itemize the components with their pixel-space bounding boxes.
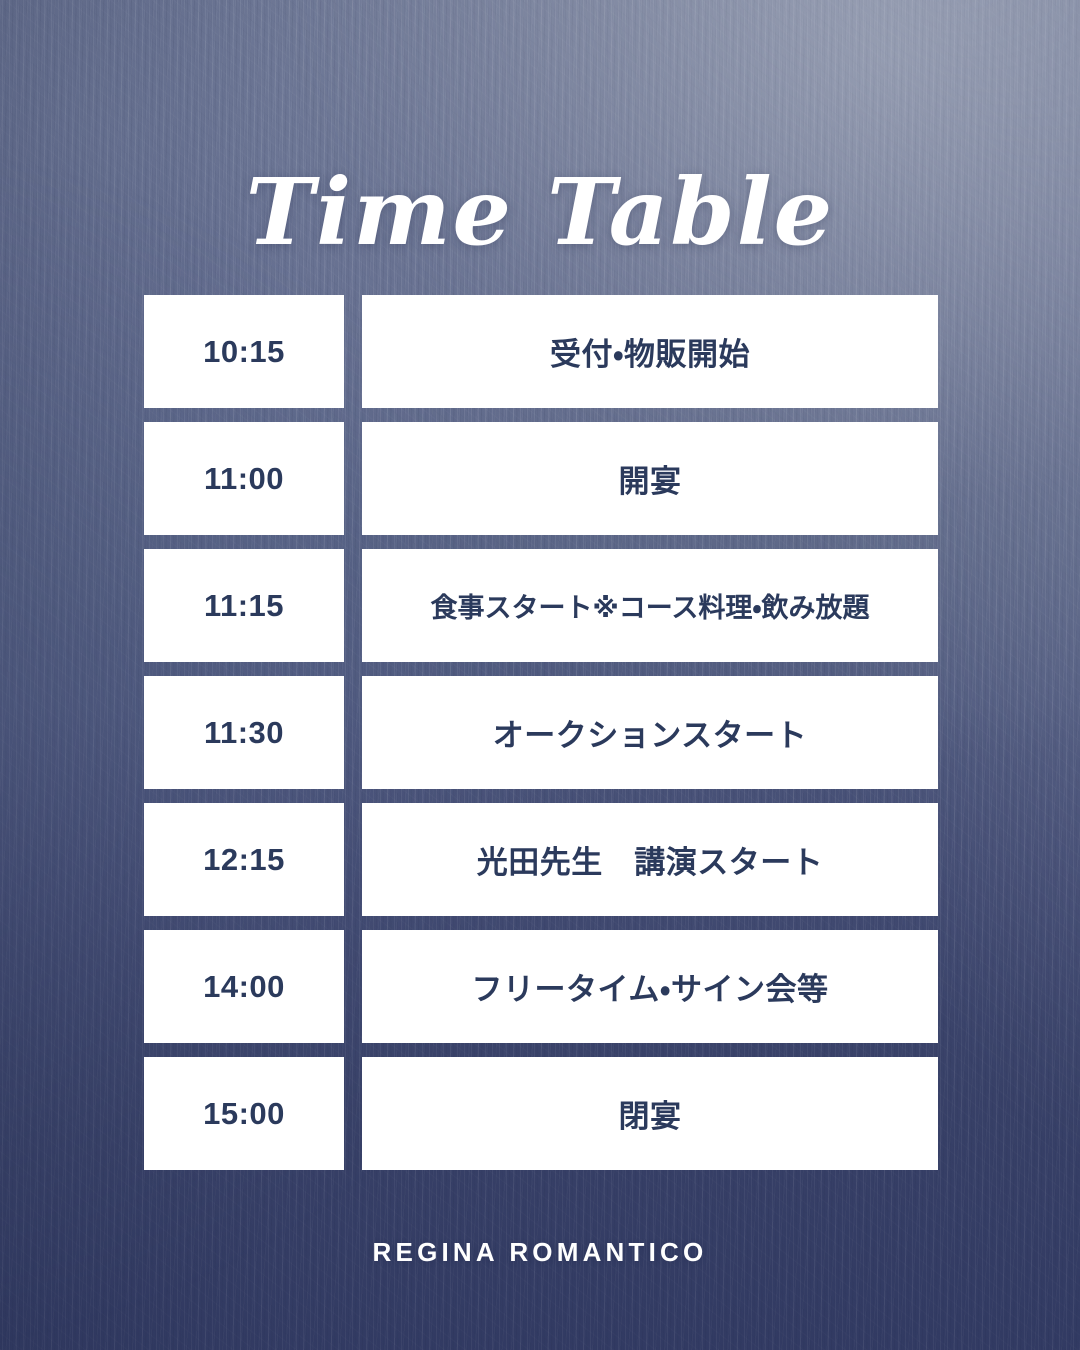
row-label: 光田先生 講演スタート: [362, 803, 938, 916]
row-label: 閉宴: [362, 1057, 938, 1170]
table-row: 12:15 光田先生 講演スタート: [144, 803, 938, 916]
table-row: 11:30 オークションスタート: [144, 676, 938, 789]
row-time: 11:30: [144, 676, 344, 789]
timetable: 10:15 受付・物販開始 11:00 開宴 11:15 食事スタート※コース料…: [144, 295, 938, 1170]
table-row: 15:00 閉宴: [144, 1057, 938, 1170]
row-divider-gap: [344, 930, 362, 1043]
row-label: 開宴: [362, 422, 938, 535]
row-time: 11:00: [144, 422, 344, 535]
row-divider-gap: [344, 1057, 362, 1170]
table-row: 10:15 受付・物販開始: [144, 295, 938, 408]
row-label: オークションスタート: [362, 676, 938, 789]
page-title: Time Table: [0, 166, 1080, 258]
table-row: 11:15 食事スタート※コース料理・飲み放題: [144, 549, 938, 662]
table-row: 11:00 開宴: [144, 422, 938, 535]
row-divider-gap: [344, 676, 362, 789]
table-row: 14:00 フリータイム・サイン会等: [144, 930, 938, 1043]
row-label: フリータイム・サイン会等: [362, 930, 938, 1043]
row-label: 食事スタート※コース料理・飲み放題: [362, 549, 938, 662]
row-time: 15:00: [144, 1057, 344, 1170]
row-divider-gap: [344, 803, 362, 916]
row-divider-gap: [344, 549, 362, 662]
row-time: 14:00: [144, 930, 344, 1043]
poster-content: Time Table 10:15 受付・物販開始 11:00 開宴 11:15 …: [0, 0, 1080, 1350]
row-divider-gap: [344, 295, 362, 408]
row-time: 11:15: [144, 549, 344, 662]
row-divider-gap: [344, 422, 362, 535]
brand-footer: REGINA ROMANTICO: [0, 1237, 1080, 1268]
poster-canvas: Time Table 10:15 受付・物販開始 11:00 開宴 11:15 …: [0, 0, 1080, 1350]
row-time: 10:15: [144, 295, 344, 408]
row-label: 受付・物販開始: [362, 295, 938, 408]
row-time: 12:15: [144, 803, 344, 916]
